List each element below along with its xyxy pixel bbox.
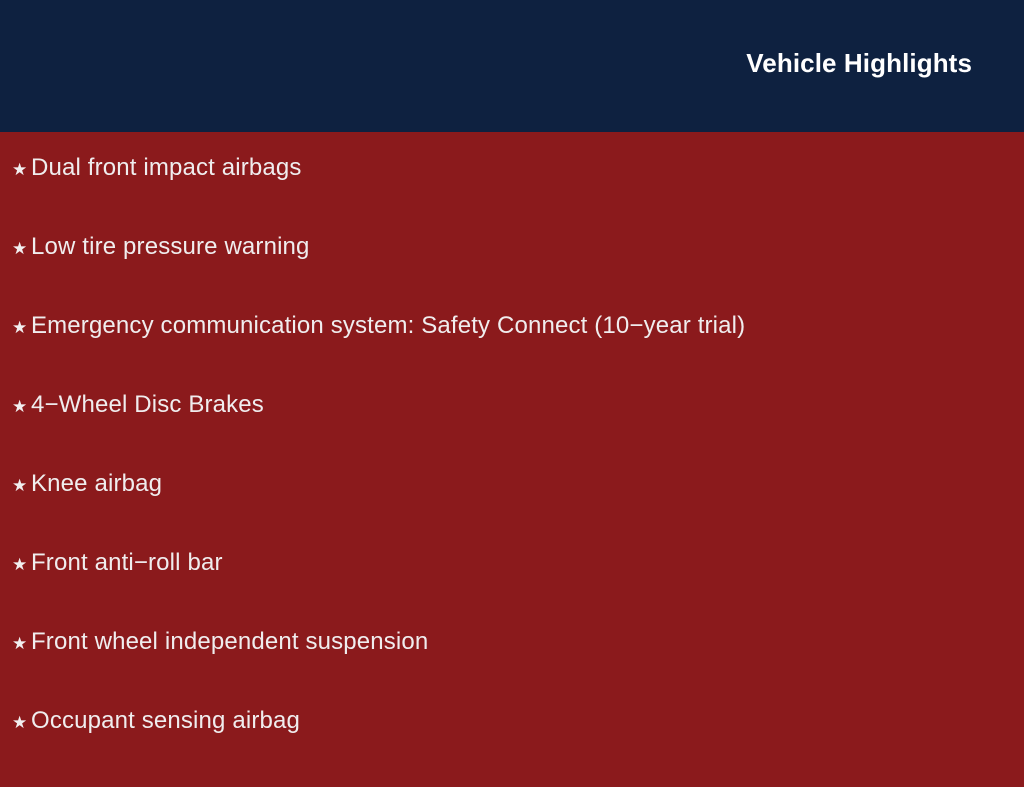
list-item-label: Knee airbag (31, 471, 162, 497)
star-icon: ★ (0, 631, 31, 657)
list-item: ★ Occupant sensing airbag (0, 708, 1024, 787)
list-item: ★ 4−Wheel Disc Brakes (0, 392, 1024, 471)
list-item-label: Dual front impact airbags (31, 155, 302, 181)
list-item-label: Low tire pressure warning (31, 234, 310, 260)
vehicle-highlights-slide: Vehicle Highlights ★ Dual front impact a… (0, 0, 1024, 768)
slide-header-band: Vehicle Highlights (0, 0, 1024, 132)
list-item: ★ Emergency communication system: Safety… (0, 313, 1024, 392)
star-icon: ★ (0, 552, 31, 578)
list-item: ★ Front wheel independent suspension (0, 629, 1024, 708)
star-icon: ★ (0, 394, 31, 420)
star-icon: ★ (0, 157, 31, 183)
list-item-label: Occupant sensing airbag (31, 708, 300, 734)
list-item: ★ Front anti−roll bar (0, 550, 1024, 629)
list-item-label: Front wheel independent suspension (31, 629, 428, 655)
list-item: ★ Low tire pressure warning (0, 234, 1024, 313)
star-icon: ★ (0, 236, 31, 262)
list-item-label: Emergency communication system: Safety C… (31, 313, 745, 339)
list-item-label: Front anti−roll bar (31, 550, 223, 576)
slide-body: ★ Dual front impact airbags ★ Low tire p… (0, 132, 1024, 768)
star-icon: ★ (0, 710, 31, 736)
page-title: Vehicle Highlights (746, 0, 1024, 76)
vehicle-highlights-list: ★ Dual front impact airbags ★ Low tire p… (0, 155, 1024, 787)
list-item: ★ Knee airbag (0, 471, 1024, 550)
star-icon: ★ (0, 315, 31, 341)
star-icon: ★ (0, 473, 31, 499)
list-item: ★ Dual front impact airbags (0, 155, 1024, 234)
list-item-label: 4−Wheel Disc Brakes (31, 392, 264, 418)
